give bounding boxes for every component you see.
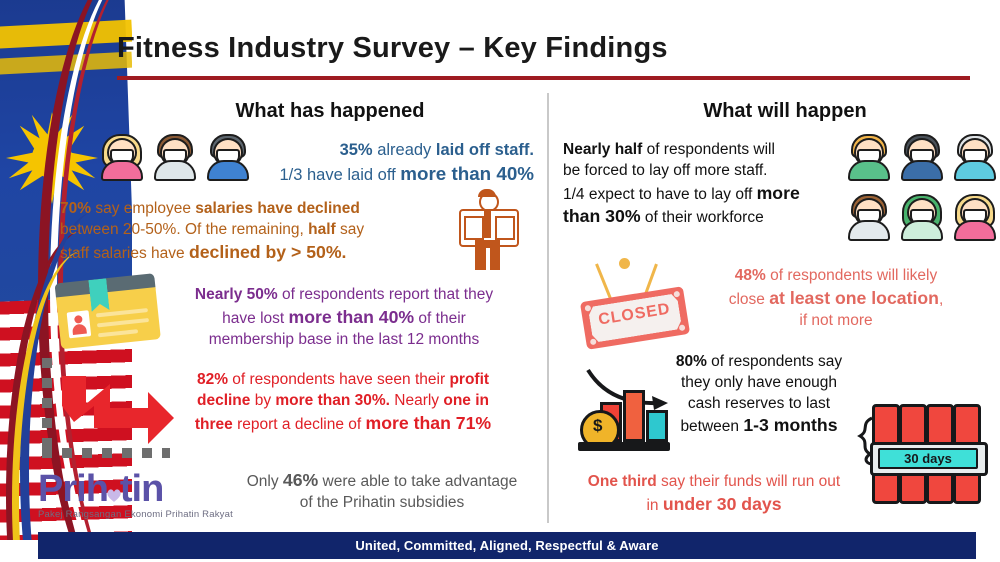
- text-segment: than 30%: [563, 206, 641, 226]
- text-segment: of their: [414, 310, 466, 327]
- text-segment: more than 30%.: [275, 392, 390, 409]
- text-line: be forced to lay off more staff.: [563, 161, 843, 182]
- avatar: [898, 192, 942, 236]
- text-segment: membership base in the last 12 months: [209, 331, 480, 348]
- prihatin-logo: Prih tin Pakej Rangsangan Ekonomi Prihat…: [38, 470, 248, 526]
- text-line: they only have enough: [648, 373, 870, 394]
- text-segment: 1/3 have laid off: [279, 166, 400, 184]
- text-segment: decline: [197, 392, 250, 409]
- text-line: 48% of respondents will likely: [700, 266, 972, 287]
- text-segment: profit: [449, 371, 489, 388]
- text-segment: by: [250, 392, 275, 409]
- text-segment: say: [336, 221, 364, 238]
- text-line: in under 30 days: [558, 493, 870, 517]
- block-future-layoffs-text: Nearly half of respondents willbe forced…: [563, 140, 843, 229]
- text-line: staff salaries have declined by > 50%.: [60, 241, 432, 265]
- avatar: [951, 132, 995, 176]
- dynamite-timer-icon: 30 days: [868, 398, 990, 506]
- prihatin-word-part-2: tin: [120, 468, 163, 510]
- membership-card-icon: [55, 273, 166, 355]
- text-segment: say their funds will run out: [657, 473, 841, 490]
- text-segment: say employee: [91, 200, 195, 217]
- cash-symbol: $: [593, 416, 602, 436]
- text-segment: already: [373, 141, 436, 159]
- text-segment: three: [195, 416, 233, 433]
- dynamite-timer-label: 30 days: [878, 448, 978, 469]
- text-line: than 30% of their workforce: [563, 205, 843, 229]
- text-line: of the Prihatin subsidies: [232, 493, 532, 514]
- six-people-grid-icon: [845, 132, 995, 250]
- heart-icon: [106, 472, 122, 487]
- text-segment: between: [680, 418, 743, 435]
- prihatin-wordmark: Prih tin: [38, 470, 248, 508]
- text-segment: more than 71%: [366, 413, 492, 433]
- text-segment: at least one location: [769, 288, 939, 308]
- closed-sign-icon: CLOSED: [583, 258, 701, 350]
- text-line: have lost more than 40% of their: [168, 306, 520, 330]
- text-segment: One third: [588, 473, 657, 490]
- text-segment: more than 40%: [289, 307, 415, 327]
- text-line: Nearly half of respondents will: [563, 140, 843, 161]
- block-closures-text: 48% of respondents will likelyclose at l…: [700, 266, 972, 331]
- page-title: Fitness Industry Survey – Key Findings: [117, 32, 668, 65]
- text-line: cash reserves to last: [648, 394, 870, 415]
- text-segment: 1-3 months: [743, 415, 837, 435]
- text-segment: 70%: [60, 200, 91, 217]
- text-line: close at least one location,: [700, 287, 972, 311]
- text-segment: declined by > 50%.: [189, 242, 347, 262]
- right-column-heading: What will happen: [600, 100, 970, 123]
- text-line: 35% already laid off staff.: [242, 139, 534, 161]
- block-funds-runout-text: One third say their funds will run outin…: [558, 472, 870, 517]
- avatar: [845, 192, 889, 236]
- text-segment: 80%: [676, 353, 707, 370]
- text-segment: if not more: [799, 312, 872, 329]
- avatar: [845, 132, 889, 176]
- text-segment: more than 40%: [400, 163, 534, 184]
- prihatin-tagline: Pakej Rangsangan Ekonomi Prihatin Rakyat: [38, 509, 248, 520]
- text-segment: in: [646, 497, 662, 514]
- text-segment: 46%: [283, 470, 318, 490]
- text-line: three report a decline of more than 71%: [152, 412, 534, 436]
- column-divider: [547, 93, 549, 523]
- text-segment: more: [757, 183, 800, 203]
- text-segment: of respondents will: [642, 141, 775, 158]
- text-segment: staff salaries have: [60, 245, 189, 262]
- text-line: if not more: [700, 311, 972, 332]
- text-line: 1/4 expect to have to lay off more: [563, 182, 843, 206]
- text-line: between 20-50%. Of the remaining, half s…: [60, 220, 432, 241]
- banner-text: United, Committed, Aligned, Respectful &…: [355, 538, 658, 553]
- text-segment: of the Prihatin subsidies: [300, 494, 465, 511]
- avatar: [151, 132, 195, 176]
- three-people-icon: [98, 132, 250, 184]
- title-underline: [117, 76, 970, 80]
- text-segment: of respondents report that they: [278, 286, 493, 303]
- text-line: 70% say employee salaries have declined: [60, 199, 432, 220]
- block-cash-reserves-text: 80% of respondents saythey only have eno…: [648, 352, 870, 438]
- text-segment: laid off staff.: [436, 141, 534, 159]
- bottom-banner: United, Committed, Aligned, Respectful &…: [38, 532, 976, 559]
- text-segment: of respondents have seen their: [228, 371, 449, 388]
- text-segment: cash reserves to last: [688, 395, 830, 412]
- empty-pockets-man-icon: [455, 192, 519, 272]
- text-segment: they only have enough: [681, 374, 837, 391]
- block-salaries-text: 70% say employee salaries have declinedb…: [60, 199, 432, 264]
- avatar: [98, 132, 142, 176]
- text-segment: between 20-50%. Of the remaining,: [60, 221, 308, 238]
- text-segment: be forced to lay off more staff.: [563, 162, 767, 179]
- block-profit-text: 82% of respondents have seen their profi…: [152, 370, 534, 435]
- block-subsidies-text: Only 46% were able to take advantageof t…: [232, 469, 532, 514]
- text-segment: half: [308, 221, 336, 238]
- text-segment: have lost: [222, 310, 288, 327]
- text-segment: report a decline of: [233, 416, 366, 433]
- avatar: [898, 132, 942, 176]
- avatar: [951, 192, 995, 236]
- text-line: Nearly 50% of respondents report that th…: [168, 285, 520, 306]
- text-segment: of their workforce: [641, 209, 764, 226]
- prihatin-word-part-1: Prih: [38, 468, 108, 510]
- text-line: One third say their funds will run out: [558, 472, 870, 493]
- infographic-slide: Fitness Industry Survey – Key Findings W…: [0, 0, 1000, 562]
- text-segment: close: [729, 291, 770, 308]
- text-line: between 1-3 months: [648, 414, 870, 438]
- block-layoffs-text: 35% already laid off staff.1/3 have laid…: [242, 139, 534, 186]
- text-segment: of respondents will likely: [766, 267, 937, 284]
- text-segment: 82%: [197, 371, 228, 388]
- text-segment: Nearly 50%: [195, 286, 278, 303]
- text-segment: one in: [443, 392, 489, 409]
- left-column-heading: What has happened: [140, 100, 520, 123]
- text-line: membership base in the last 12 months: [168, 330, 520, 351]
- text-segment: were able to take advantage: [318, 473, 517, 490]
- text-line: 80% of respondents say: [648, 352, 870, 373]
- text-line: 1/3 have laid off more than 40%: [242, 161, 534, 186]
- block-membership-text: Nearly 50% of respondents report that th…: [168, 285, 520, 350]
- text-segment: 48%: [735, 267, 766, 284]
- text-line: decline by more than 30%. Nearly one in: [152, 391, 534, 412]
- text-segment: 35%: [340, 141, 373, 159]
- text-segment: salaries have declined: [195, 200, 360, 217]
- text-line: Only 46% were able to take advantage: [232, 469, 532, 493]
- text-segment: of respondents say: [707, 353, 842, 370]
- text-segment: Nearly: [390, 392, 443, 409]
- text-segment: Only: [247, 473, 283, 490]
- text-segment: 1/4 expect to have to lay off: [563, 186, 757, 203]
- text-line: 82% of respondents have seen their profi…: [152, 370, 534, 391]
- text-segment: under 30 days: [663, 494, 782, 514]
- text-segment: ,: [939, 291, 943, 308]
- text-segment: Nearly half: [563, 141, 642, 158]
